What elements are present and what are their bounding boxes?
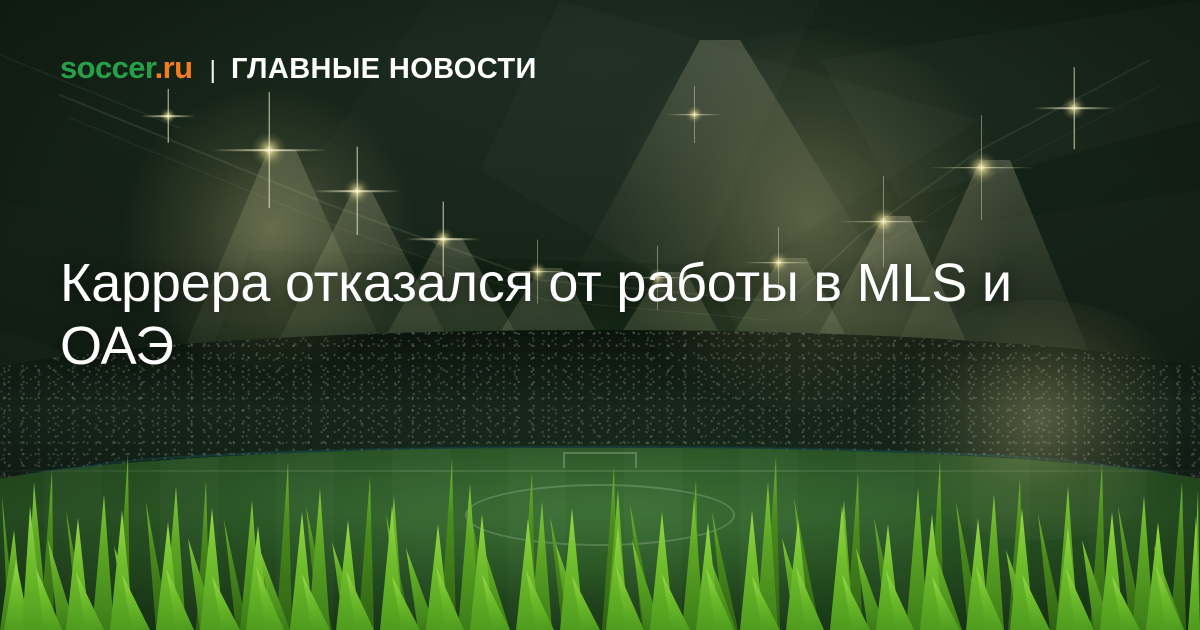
soccer-ru-logo[interactable]: soccer.ru [60,52,192,83]
header-kicker: ГЛАВНЫЕ НОВОСТИ [231,55,537,84]
header-separator: | [209,58,216,83]
logo-tld: ru [163,50,193,85]
article-headline: Каррера отказался от работы в MLS и ОАЭ [60,252,1140,378]
logo-name: soccer [60,50,155,85]
news-card: soccer.ru | ГЛАВНЫЕ НОВОСТИ Каррера отка… [0,0,1200,630]
logo-dot: . [155,50,163,85]
site-header: soccer.ru | ГЛАВНЫЕ НОВОСТИ [60,52,537,84]
